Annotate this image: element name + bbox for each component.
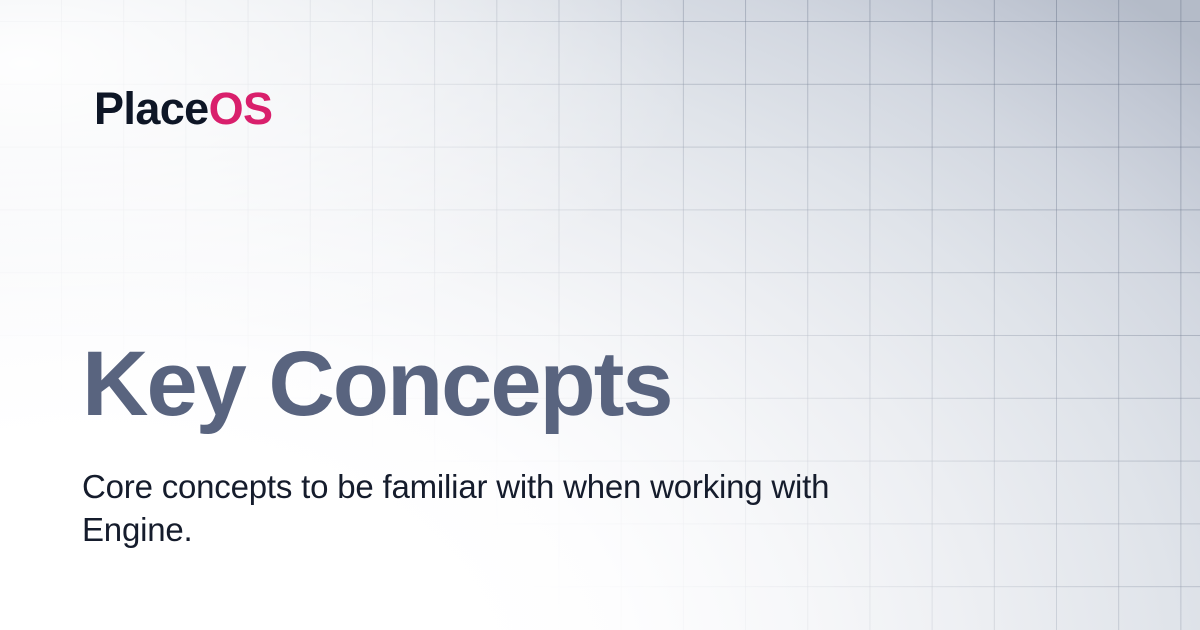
logo-wordmark-accent: OS (209, 83, 273, 134)
logo-wordmark-primary: Place (94, 83, 209, 134)
page-title: Key Concepts (82, 334, 672, 434)
og-card: PlaceOS Key Concepts Core concepts to be… (0, 0, 1200, 630)
page-description: Core concepts to be familiar with when w… (82, 465, 872, 551)
card-content: PlaceOS Key Concepts Core concepts to be… (0, 0, 1200, 630)
placeos-logo: PlaceOS (94, 84, 272, 134)
